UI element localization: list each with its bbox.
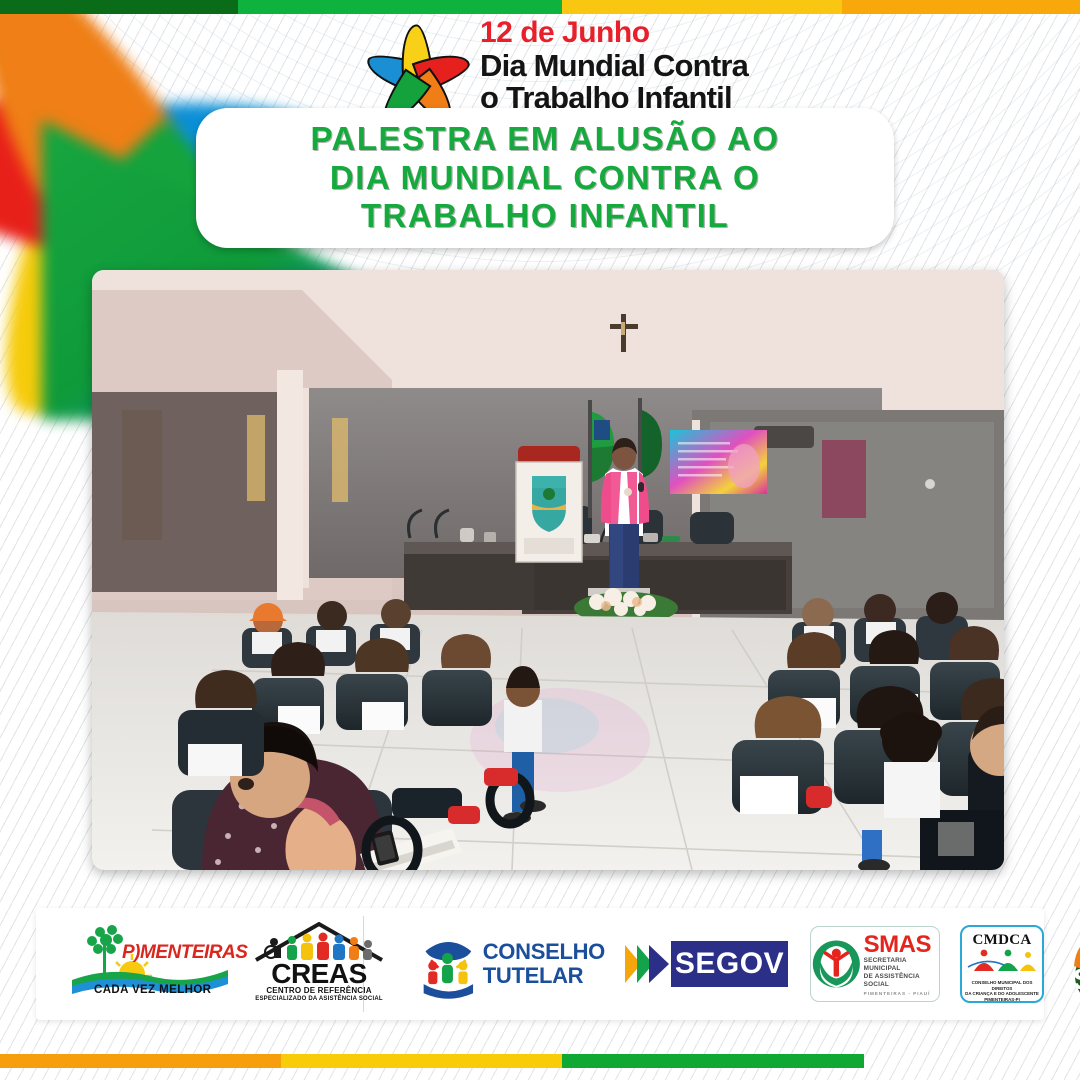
- smas-subtitle-2: DE ASSISTÊNCIA SOCIAL: [864, 973, 939, 989]
- title-line-1: PALESTRA EM ALUSÃO AO: [310, 120, 779, 159]
- bottom-bar-segment-orange: [0, 1054, 281, 1068]
- deco-petal-red: [0, 74, 151, 264]
- campaign-header-logo: 12 de Junho Dia Mundial Contra o Trabalh…: [368, 14, 748, 116]
- cmdca-subtitle-3: PIMENTEIRAS-PI: [962, 997, 1042, 1003]
- campaign-line2: Dia Mundial Contra: [480, 50, 748, 82]
- pimenteiras-wordmark: P)MENTEIRAS: [122, 942, 247, 964]
- campaign-date: 12 de Junho: [480, 18, 748, 48]
- title-card: PALESTRA EM ALUSÃO AO DIA MUNDIAL CONTRA…: [196, 108, 894, 248]
- suas-subtitle: Sistema Único de Assistência Social: [1060, 992, 1080, 998]
- top-bar-segment-dark-green: [0, 0, 238, 14]
- poster-canvas: 12 de Junho Dia Mundial Contra o Trabalh…: [0, 0, 1080, 1080]
- segov-wordmark-bar: SEGOV: [671, 941, 788, 987]
- event-photo: [92, 270, 1004, 870]
- top-bar-segment-yellow: [562, 0, 843, 14]
- top-bar-segment-orange: [842, 0, 1080, 14]
- title-line-2: DIA MUNDIAL CONTRA O: [310, 159, 779, 198]
- partner-logo-bar: P)MENTEIRAS CADA VEZ MELHOR: [36, 908, 1044, 1020]
- cmdca-subtitle-1: CONSELHO MUNICIPAL DOS DIREITOS: [962, 980, 1042, 991]
- smas-hands-icon: [811, 932, 862, 996]
- cmdca-children-icon: [966, 949, 1038, 975]
- conselho-tutelar-icon: [420, 928, 477, 1000]
- event-photo-illustration: [92, 270, 1004, 870]
- logo-pimenteiras: P)MENTEIRAS CADA VEZ MELHOR: [36, 908, 230, 1020]
- pinwheel-icon: [368, 14, 470, 116]
- logo-suas: SUAS Sistema Único de Assistência Social: [1044, 908, 1080, 1020]
- logo-smas: SMAS SECRETARIA MUNICIPAL DE ASSISTÊNCIA…: [788, 908, 940, 1020]
- title-line-3: TRABALHO INFANTIL: [310, 197, 779, 236]
- creas-subtitle-2: ESPECIALIZADO DA ASISTÊNCIA SOCIAL: [244, 996, 394, 1002]
- smas-subtitle-1: SECRETARIA MUNICIPAL: [864, 957, 939, 973]
- logo-conselho-tutelar: CONSELHO TUTELAR: [394, 908, 605, 1020]
- creas-subtitle-1: CENTRO DE REFERÊNCIA: [244, 986, 394, 995]
- conselho-line2: TUTELAR: [483, 964, 605, 988]
- campaign-header-text: 12 de Junho Dia Mundial Contra o Trabalh…: [480, 16, 748, 113]
- page-title: PALESTRA EM ALUSÃO AO DIA MUNDIAL CONTRA…: [288, 120, 801, 236]
- top-bar-segment-green: [238, 0, 562, 14]
- bottom-bar-segment-white: [864, 1054, 1080, 1068]
- pimenteiras-slogan: CADA VEZ MELHOR: [94, 984, 211, 996]
- deco-petal-orange: [0, 0, 197, 242]
- smas-wordmark: SMAS: [864, 933, 939, 957]
- segov-chevrons-icon: [623, 941, 675, 987]
- segov-wordmark: SEGOV: [675, 947, 784, 981]
- smas-subtitle-3: PIMENTEIRAS - PIAUÍ: [864, 991, 939, 996]
- bottom-bar-segment-yellow: [281, 1054, 562, 1068]
- conselho-tutelar-wordmark: CONSELHO TUTELAR: [483, 940, 605, 988]
- conselho-line1: CONSELHO: [483, 940, 605, 964]
- logo-creas: CREAS CENTRO DE REFERÊNCIA ESPECIALIZADO…: [230, 908, 394, 1020]
- logo-cmdca: CMDCA CONSELHO MUNICIPAL DOS DIREITOS DA…: [940, 908, 1044, 1020]
- top-color-bar: [0, 0, 1080, 14]
- logo-segov: SEGOV: [605, 908, 788, 1020]
- bottom-color-bar: [0, 1054, 1080, 1068]
- bottom-bar-segment-green: [562, 1054, 864, 1068]
- cmdca-wordmark: CMDCA: [962, 932, 1042, 949]
